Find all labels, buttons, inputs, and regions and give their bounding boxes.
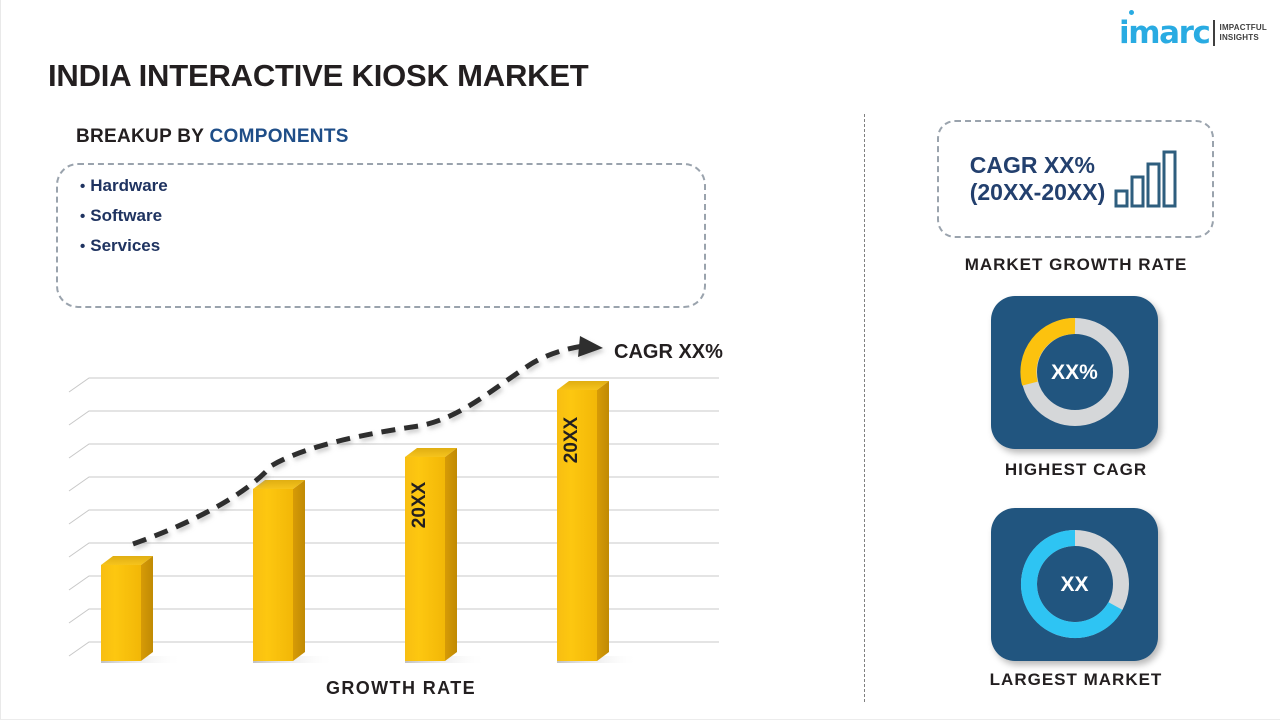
panel-divider bbox=[864, 114, 865, 702]
bullet-icon: • bbox=[80, 208, 85, 225]
logo-dot-icon bbox=[1129, 10, 1134, 15]
bar-1 bbox=[101, 556, 153, 661]
list-item: •Hardware bbox=[80, 177, 704, 194]
cagr-badge-line2: (20XX-20XX) bbox=[970, 179, 1106, 206]
bar-4-label: 20XX bbox=[561, 416, 582, 463]
components-list-box: •Hardware •Software •Services bbox=[56, 163, 706, 308]
cagr-badge-text: CAGR XX% (20XX-20XX) bbox=[970, 152, 1106, 206]
breakup-heading-accent: COMPONENTS bbox=[210, 126, 349, 147]
bullet-icon: • bbox=[80, 178, 85, 195]
page-title: INDIA INTERACTIVE KIOSK MARKET bbox=[48, 58, 589, 94]
list-item-label: Services bbox=[90, 236, 160, 255]
largest-market-caption: LARGEST MARKET bbox=[916, 670, 1236, 690]
bar-3: 20XX bbox=[405, 448, 457, 661]
breakup-heading-lead: BREAKUP BY bbox=[76, 126, 210, 147]
logo-wordmark: imarc bbox=[1119, 18, 1210, 49]
highest-cagr-donut bbox=[1017, 314, 1133, 430]
logo-tagline-line2: INSIGHTS bbox=[1220, 33, 1267, 43]
trend-arrow-icon bbox=[133, 336, 603, 544]
list-item-label: Software bbox=[90, 206, 162, 225]
bar-4: 20XX bbox=[557, 381, 609, 661]
highest-cagr-tile: XX% bbox=[991, 296, 1158, 449]
list-item: •Software bbox=[80, 207, 704, 224]
market-growth-rate-caption: MARKET GROWTH RATE bbox=[916, 255, 1236, 275]
list-item-label: Hardware bbox=[90, 176, 167, 195]
largest-market-donut bbox=[1017, 526, 1133, 642]
infographic-page: imarc IMPACTFUL INSIGHTS INDIA INTERACTI… bbox=[0, 0, 1280, 720]
bullet-icon: • bbox=[80, 238, 85, 255]
bar-2 bbox=[253, 480, 305, 661]
imarc-logo: imarc IMPACTFUL INSIGHTS bbox=[1119, 14, 1267, 52]
chart-axis-label: GROWTH RATE bbox=[61, 678, 741, 699]
chart-cagr-label: CAGR XX% bbox=[614, 341, 723, 364]
logo-tagline: IMPACTFUL INSIGHTS bbox=[1220, 23, 1267, 43]
cagr-badge: CAGR XX% (20XX-20XX) bbox=[937, 120, 1214, 238]
logo-tagline-line1: IMPACTFUL bbox=[1220, 23, 1267, 33]
logo-divider bbox=[1213, 20, 1215, 46]
breakup-heading: BREAKUP BY COMPONENTS bbox=[76, 126, 349, 148]
chart-canvas: 20XX 20XX bbox=[61, 330, 741, 675]
cagr-badge-line1: CAGR XX% bbox=[970, 152, 1106, 179]
logo-word-text: imarc bbox=[1119, 15, 1210, 51]
list-item: •Services bbox=[80, 237, 704, 254]
bar-chart-icon bbox=[1113, 149, 1177, 209]
bar-3-label: 20XX bbox=[409, 481, 430, 528]
highest-cagr-caption: HIGHEST CAGR bbox=[916, 460, 1236, 480]
chart-gridlines bbox=[69, 378, 719, 656]
growth-rate-bar-chart: 20XX 20XX CAGR XX% GROWTH RATE bbox=[61, 330, 741, 705]
largest-market-tile: XX bbox=[991, 508, 1158, 661]
